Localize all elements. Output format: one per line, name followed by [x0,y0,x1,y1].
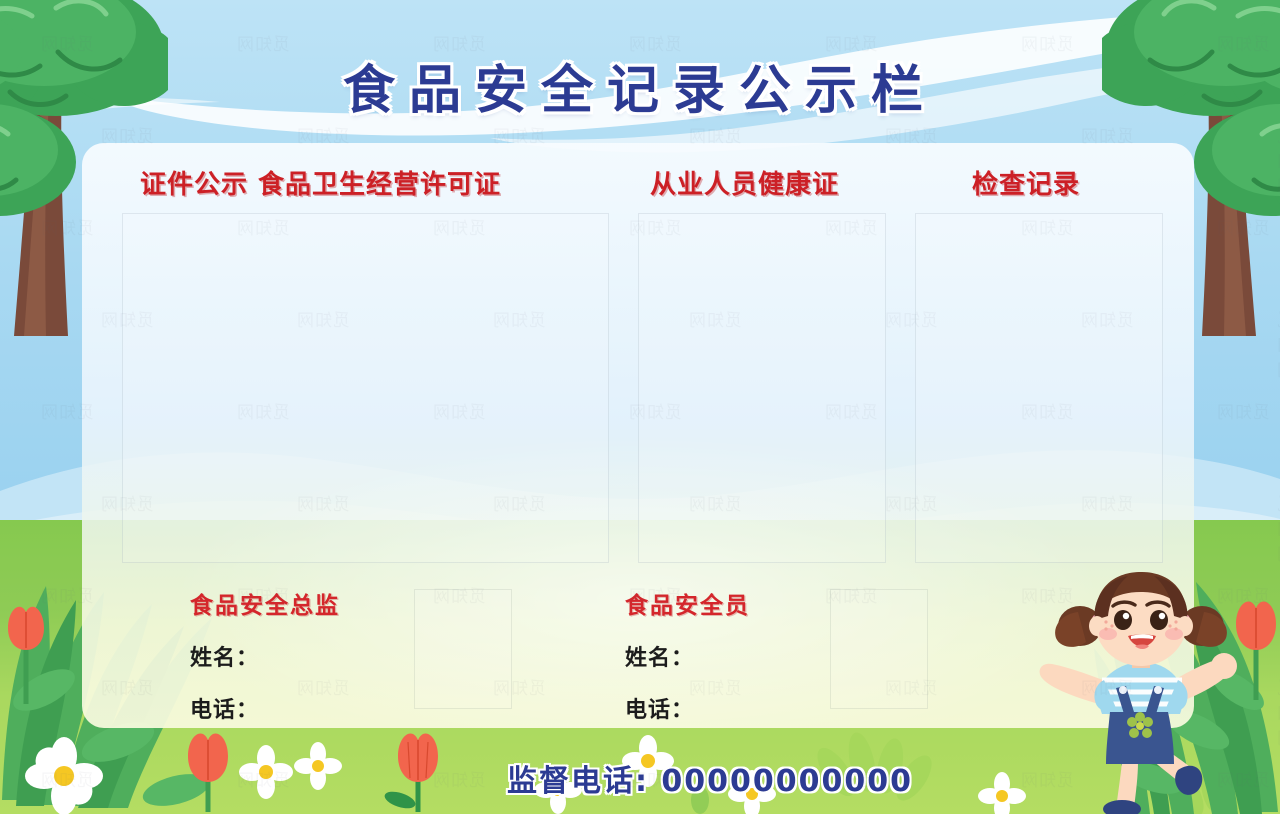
page-title: 食品安全记录公示栏 [0,48,1280,123]
director-phone-label: 电话： [190,692,340,724]
director-name-label: 姓名： [190,640,340,672]
food-safety-officer-title: 食品安全员 [625,586,750,620]
health-cert-header: 从业人员健康证 [650,164,839,201]
officer-name-label: 姓名： [625,640,750,672]
inspection-record-header: 检查记录 [972,164,1080,201]
supervision-phone: 监督电话: 00000000000 [0,756,1280,800]
inspection-record-display-box[interactable] [915,213,1163,563]
food-safety-director-title: 食品安全总监 [190,586,340,620]
officer-photo-box[interactable] [830,589,928,709]
poster-canvas: 食品安全记录公示栏 证件公示 食品卫生经营许可证 从业人员健康证 检查记录 食品… [0,0,1280,814]
license-display-box[interactable] [122,213,609,563]
food-safety-director-block: 食品安全总监 姓名： 电话： [190,586,340,724]
license-header: 证件公示 食品卫生经营许可证 [140,164,501,201]
health-cert-display-box[interactable] [638,213,886,563]
food-safety-officer-block: 食品安全员 姓名： 电话： [625,586,750,724]
director-photo-box[interactable] [414,589,512,709]
officer-phone-label: 电话： [625,692,750,724]
